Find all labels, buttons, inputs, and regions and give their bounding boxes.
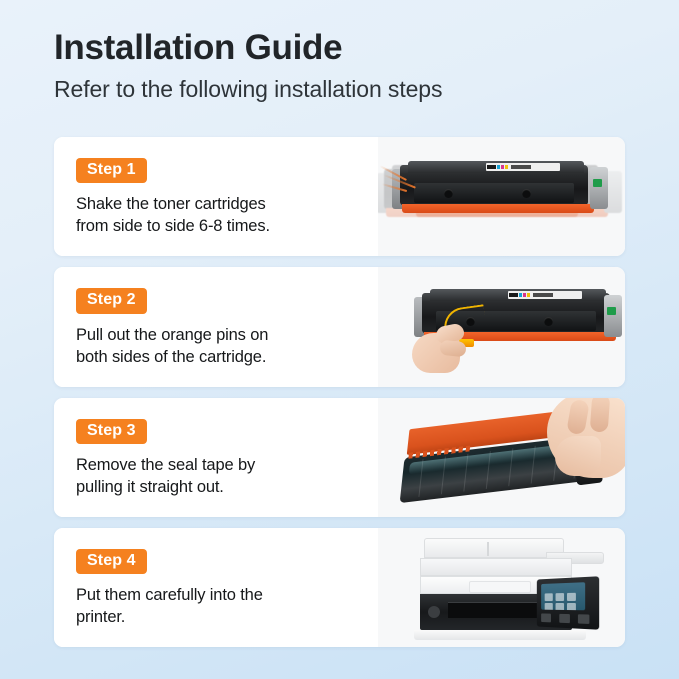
step-3-description: Remove the seal tape by pulling it strai… <box>76 455 358 499</box>
cartridge-label-icon <box>486 163 560 171</box>
step-2-text-block: Step 2 Pull out the orange pins on both … <box>54 267 378 386</box>
steps-list: Step 1 Shake the toner cartridges from s… <box>54 137 625 658</box>
toner-cartridge-shaking-illustration <box>378 137 625 256</box>
page-header: Installation Guide Refer to the followin… <box>54 28 614 104</box>
toner-cartridge-pull-pin-illustration <box>378 267 625 386</box>
page-subtitle: Refer to the following installation step… <box>54 76 614 104</box>
step-card-3: Step 3 Remove the seal tape by pulling i… <box>54 398 625 517</box>
step-4-badge: Step 4 <box>76 549 147 574</box>
printer-panel-buttons <box>541 613 589 624</box>
hand-icon <box>535 398 625 496</box>
step-4-description: Put them carefully into the printer. <box>76 585 358 629</box>
step-1-description: Shake the toner cartridges from side to … <box>76 194 358 238</box>
page-title: Installation Guide <box>54 28 614 67</box>
printer-scanner-body <box>420 558 572 576</box>
step-2-description: Pull out the orange pins on both sides o… <box>76 325 358 369</box>
hand-icon <box>412 323 474 379</box>
printer-control-panel <box>537 576 599 629</box>
printer-touchscreen <box>541 582 585 610</box>
step-1-image <box>378 137 625 256</box>
step-card-4: Step 4 Put them carefully into the print… <box>54 528 625 647</box>
toner-cartridge-seal-tape-illustration <box>378 398 625 517</box>
printer-document-feeder <box>424 538 564 558</box>
printer-base <box>414 630 586 640</box>
printer-logo-icon <box>428 606 440 618</box>
step-3-text-block: Step 3 Remove the seal tape by pulling i… <box>54 398 378 517</box>
step-4-image <box>378 528 625 647</box>
step-3-badge: Step 3 <box>76 419 147 444</box>
toner-cartridge-icon <box>400 159 598 217</box>
step-2-badge: Step 2 <box>76 288 147 313</box>
step-1-badge: Step 1 <box>76 158 147 183</box>
step-card-2: Step 2 Pull out the orange pins on both … <box>54 267 625 386</box>
installation-guide-page: Installation Guide Refer to the followin… <box>0 0 679 679</box>
step-3-image <box>378 398 625 517</box>
cartridge-label-icon <box>508 291 582 299</box>
printer-icon <box>414 538 604 642</box>
step-card-1: Step 1 Shake the toner cartridges from s… <box>54 137 625 256</box>
step-2-image <box>378 267 625 386</box>
step-1-text-block: Step 1 Shake the toner cartridges from s… <box>54 137 378 256</box>
step-4-text-block: Step 4 Put them carefully into the print… <box>54 528 378 647</box>
laser-printer-illustration <box>378 528 625 647</box>
motion-lines-icon <box>380 161 426 191</box>
